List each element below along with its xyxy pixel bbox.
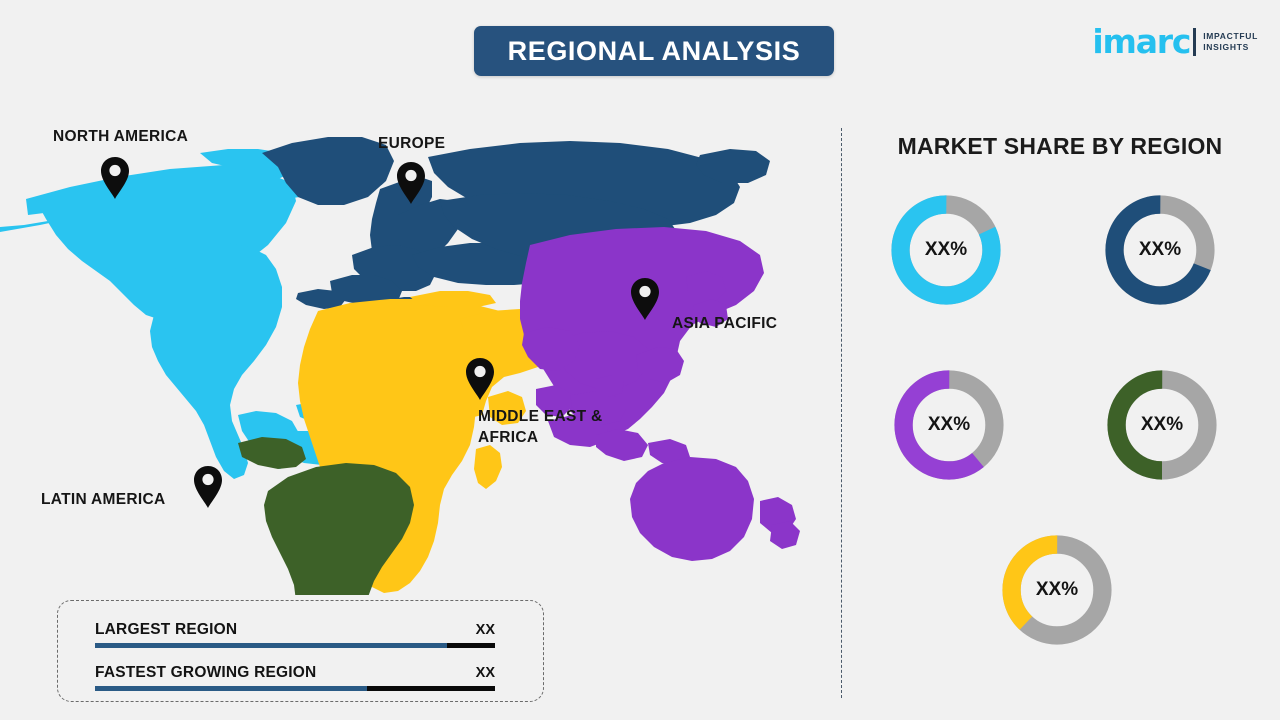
donut-value-north-america: XX% xyxy=(886,190,1006,310)
legend-value-largest-region: XX xyxy=(476,622,495,638)
imarc-logo: imarc IMPACTFUL INSIGHTS xyxy=(1092,24,1258,60)
logo-divider-bar xyxy=(1193,28,1196,56)
donut-north-america: XX% xyxy=(886,190,1006,310)
donut-value-asia-pacific: XX% xyxy=(889,365,1009,485)
market-share-heading: MARKET SHARE BY REGION xyxy=(860,133,1260,160)
map-pin-icon-middle-east-africa[interactable] xyxy=(465,358,495,400)
legend-row-largest-region: LARGEST REGION XX xyxy=(95,621,495,648)
map-pin-icon-north-america[interactable] xyxy=(100,157,130,199)
legend-row-fastest-growing-region: FASTEST GROWING REGION XX xyxy=(95,664,495,691)
legend-bar-largest-region xyxy=(95,643,495,648)
map-label-europe: EUROPE xyxy=(378,133,445,154)
map-label-latin-america: LATIN AMERICA xyxy=(41,489,165,510)
donut-middle-east-africa: XX% xyxy=(997,530,1117,650)
legend-label-fastest-growing-region: FASTEST GROWING REGION xyxy=(95,664,316,682)
donut-value-latin-america: XX% xyxy=(1102,365,1222,485)
donut-value-middle-east-africa: XX% xyxy=(997,530,1117,650)
legend-bar-fastest-growing-region xyxy=(95,686,495,691)
map-pin-icon-europe[interactable] xyxy=(396,162,426,204)
donut-europe: XX% xyxy=(1100,190,1220,310)
donut-asia-pacific: XX% xyxy=(889,365,1009,485)
legend-value-fastest-growing-region: XX xyxy=(476,665,495,681)
logo-wordmark: imarc xyxy=(1092,27,1190,57)
map-pin-icon-latin-america[interactable] xyxy=(193,466,223,508)
donut-chart-group: XX% XX% XX% XX% XX% xyxy=(860,178,1260,698)
donut-value-europe: XX% xyxy=(1100,190,1220,310)
map-label-north-america: NORTH AMERICA xyxy=(53,126,188,147)
legend-label-largest-region: LARGEST REGION xyxy=(95,621,237,639)
legend-bar-fill-fastest-growing-region xyxy=(95,686,367,691)
logo-tagline-line1: IMPACTFUL xyxy=(1203,31,1258,42)
map-region-asia-pacific xyxy=(520,227,800,561)
logo-tagline: IMPACTFUL INSIGHTS xyxy=(1203,31,1258,53)
region-summary-box: LARGEST REGION XX FASTEST GROWING REGION… xyxy=(57,600,544,702)
regional-analysis-slide: REGIONAL ANALYSIS imarc IMPACTFUL INSIGH… xyxy=(0,0,1280,720)
vertical-dashed-divider xyxy=(841,128,842,698)
map-pin-icon-asia-pacific[interactable] xyxy=(630,278,660,320)
donut-latin-america: XX% xyxy=(1102,365,1222,485)
map-label-middle-east-africa: MIDDLE EAST & AFRICA xyxy=(478,406,602,448)
page-title: REGIONAL ANALYSIS xyxy=(508,36,801,67)
page-title-banner: REGIONAL ANALYSIS xyxy=(474,26,834,76)
map-label-asia-pacific: ASIA PACIFIC xyxy=(672,313,777,334)
logo-tagline-line2: INSIGHTS xyxy=(1203,42,1258,53)
legend-bar-fill-largest-region xyxy=(95,643,447,648)
